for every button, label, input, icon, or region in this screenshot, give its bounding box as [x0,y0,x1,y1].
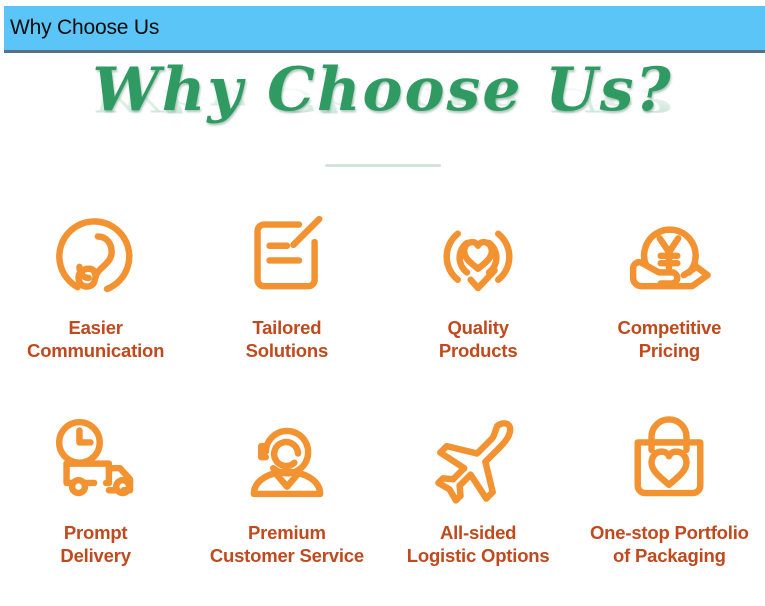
ear-listening-icon [46,204,146,304]
page-title-reflection: Why Choose Us? [92,83,672,116]
feature-tailored-solutions[interactable]: Tailored Solutions [191,196,382,401]
feature-label: Quality Products [439,316,518,363]
heart-signal-check-icon [428,204,528,304]
feature-quality-products[interactable]: Quality Products [383,196,574,401]
feature-label: Premium Customer Service [210,521,364,568]
hero-title-group: Why Choose Us? Why Choose Us? [92,60,672,176]
shopping-bag-heart-icon [619,409,719,509]
feature-label: Tailored Solutions [246,316,328,363]
window-title: Why Choose Us [4,16,159,40]
feature-label: One-stop Portfolio of Packaging [590,521,749,568]
hero-section: Why Choose Us? Why Choose Us? [0,60,765,170]
feature-competitive-pricing[interactable]: Competitive Pricing [574,196,765,401]
feature-easier-communication[interactable]: Easier Communication [0,196,191,401]
window-header-bar: Why Choose Us [4,6,765,53]
delivery-truck-clock-icon [46,409,146,509]
feature-label: All-sided Logistic Options [407,521,550,568]
feature-label: Prompt Delivery [60,521,130,568]
feature-prompt-delivery[interactable]: Prompt Delivery [0,401,191,606]
feature-label: Easier Communication [27,316,164,363]
page-content: Why Choose Us? Why Choose Us? Easier Com… [0,56,765,599]
feature-label: Competitive Pricing [618,316,722,363]
hand-yen-coin-icon [619,204,719,304]
features-grid: Easier Communication Tailored Solutions [0,196,765,606]
feature-one-stop-portfolio-of-packaging[interactable]: One-stop Portfolio of Packaging [574,401,765,606]
airplane-icon [428,409,528,509]
headset-agent-icon [237,409,337,509]
feature-all-sided-logistic-options[interactable]: All-sided Logistic Options [383,401,574,606]
feature-premium-customer-service[interactable]: Premium Customer Service [191,401,382,606]
document-pencil-icon [237,204,337,304]
hero-divider [325,164,441,167]
